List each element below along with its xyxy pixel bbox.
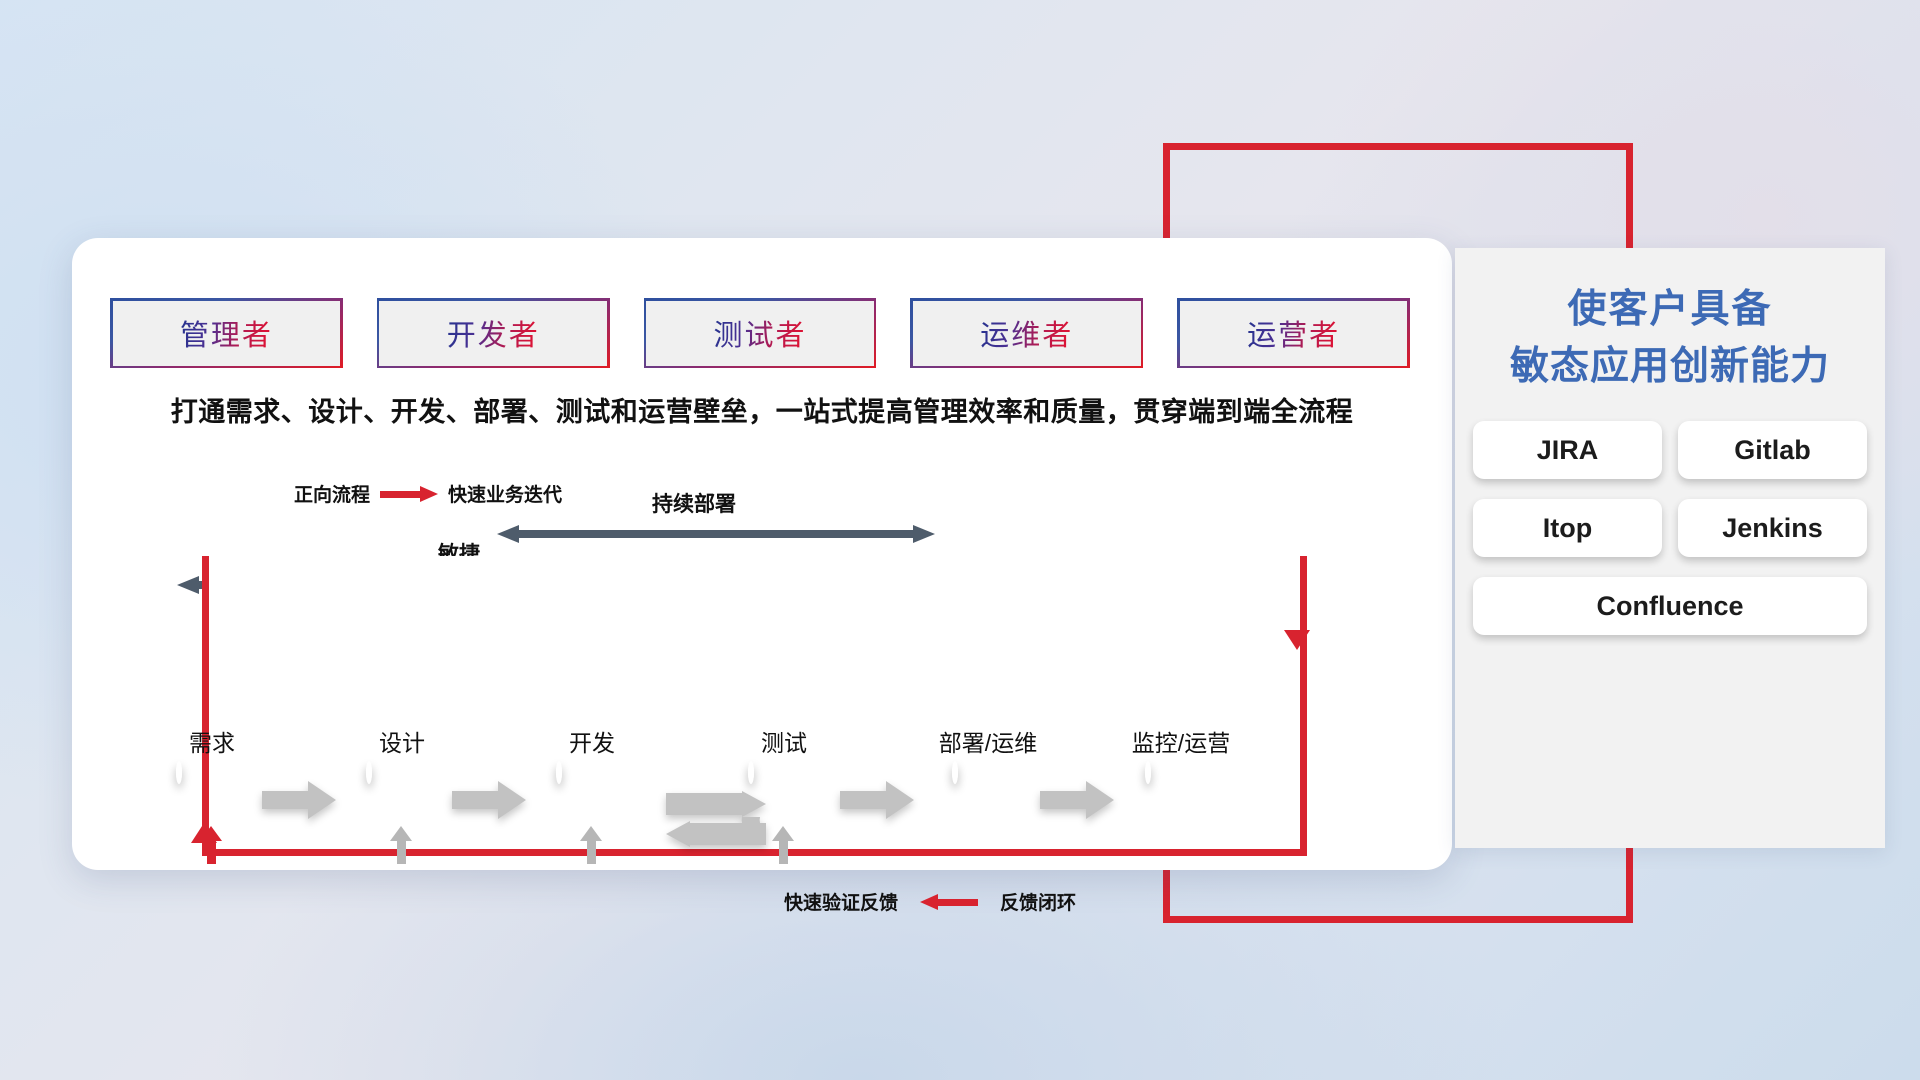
flow-arrow-2-icon xyxy=(452,781,526,819)
node-circle-icon xyxy=(176,761,182,784)
main-card: 管理者 开发者 测试者 运维者 运营者 打通需求、设计、开发、部署、测试和运营壁… xyxy=(72,238,1452,870)
tool-badge-gitlab[interactable]: Gitlab xyxy=(1678,421,1867,479)
flow-arrow-4-icon xyxy=(1040,781,1114,819)
node-circle-icon xyxy=(366,761,372,784)
node-circle-icon xyxy=(1145,761,1151,784)
tool-badge-jira[interactable]: JIRA xyxy=(1473,421,1662,479)
node-circle-icon xyxy=(952,761,958,784)
pipeline-node-design[interactable]: 设计 xyxy=(366,764,438,836)
flow-arrow-3-icon xyxy=(840,781,914,819)
panel-heading-line2: 敏态应用创新能力 xyxy=(1455,339,1885,396)
pipeline-node-monitor-operate[interactable]: 监控/运营 xyxy=(1145,764,1217,836)
pipeline: 需求 设计 开发 xyxy=(72,238,1452,870)
right-panel: 使客户具备 敏态应用创新能力 JIRA Gitlab Itop Jenkins … xyxy=(1455,248,1885,848)
node-circle-icon xyxy=(556,761,562,784)
legend-feedback-right-label: 反馈闭环 xyxy=(1000,888,1076,915)
node-stem xyxy=(397,838,406,864)
flow-arrow-1-icon xyxy=(262,781,336,819)
tool-badge-itop[interactable]: Itop xyxy=(1473,499,1662,557)
node-label: 部署/运维 xyxy=(939,724,1037,758)
panel-heading-line1: 使客户具备 xyxy=(1455,282,1885,339)
node-label: 设计 xyxy=(379,724,425,758)
node-circle-icon xyxy=(748,761,754,784)
node-stem xyxy=(207,838,216,864)
legend-feedback-left-label: 快速验证反馈 xyxy=(784,888,898,915)
node-stem xyxy=(779,838,788,864)
pipeline-node-test[interactable]: 测试 xyxy=(748,764,820,836)
pipeline-node-requirement[interactable]: 需求 xyxy=(176,764,248,836)
pipeline-node-develop[interactable]: 开发 xyxy=(556,764,628,836)
node-label: 测试 xyxy=(761,724,807,758)
node-stem xyxy=(587,838,596,864)
node-label: 开发 xyxy=(569,724,615,758)
tool-badge-confluence[interactable]: Confluence xyxy=(1473,577,1867,635)
node-label: 监控/运营 xyxy=(1132,724,1230,758)
panel-heading: 使客户具备 敏态应用创新能力 xyxy=(1455,248,1885,395)
tool-badge-jenkins[interactable]: Jenkins xyxy=(1678,499,1867,557)
pipeline-node-deploy-ops[interactable]: 部署/运维 xyxy=(952,764,1024,836)
legend-feedback-loop: 快速验证反馈 反馈闭环 xyxy=(784,888,1076,915)
node-label: 需求 xyxy=(189,724,235,758)
arrow-left-red-icon xyxy=(920,894,978,910)
tools-list: JIRA Gitlab Itop Jenkins Confluence xyxy=(1473,421,1867,635)
